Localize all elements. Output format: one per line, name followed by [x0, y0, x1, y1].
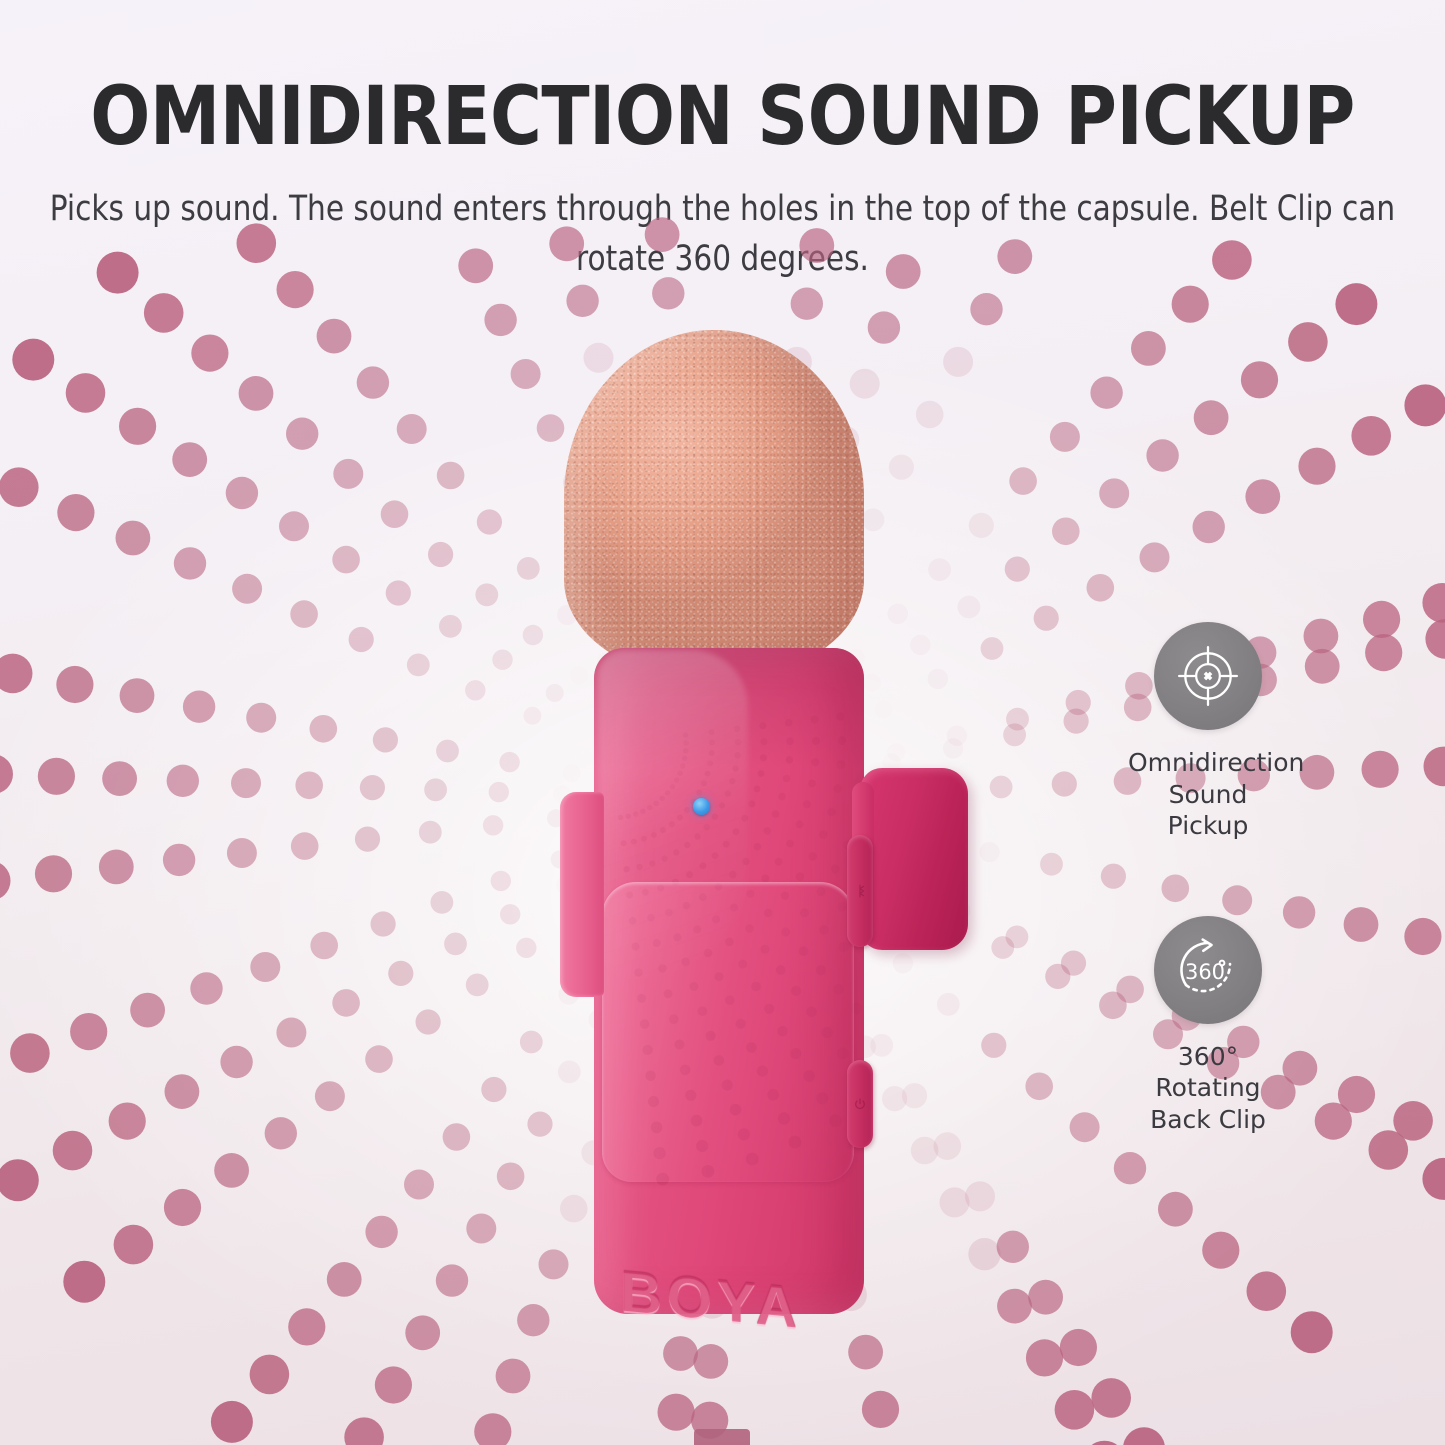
power-icon	[854, 1098, 867, 1111]
led-indicator	[693, 798, 710, 815]
pairing-icon	[853, 884, 867, 898]
feature-rotating-clip: 360 360° Rotating Back Clip	[1128, 916, 1288, 1136]
foam-windscreen	[564, 330, 864, 675]
feature-list: Omnidirection Sound Pickup 360 360° Rota…	[1128, 622, 1428, 1135]
feature-omnidirection: Omnidirection Sound Pickup	[1128, 622, 1288, 842]
front-plate-panel	[602, 882, 854, 1182]
rotate-360-icon: 360	[1172, 934, 1244, 1006]
clip-hinge-tab	[560, 792, 604, 997]
cutoff-element-bottom	[694, 1429, 750, 1445]
feature-badge	[1154, 622, 1262, 730]
page-subtitle: Picks up sound. The sound enters through…	[43, 185, 1401, 284]
header-block: OMNIDIRECTION SOUND PICKUP Picks up soun…	[0, 0, 1445, 285]
feature-badge: 360	[1154, 916, 1262, 1024]
crosshair-target-icon	[1175, 643, 1241, 709]
product-microphone: BOYA	[564, 330, 984, 1340]
rotating-back-clip[interactable]	[860, 768, 968, 950]
feature-label: Omnidirection Sound Pickup	[1128, 747, 1288, 842]
feature-label: 360° Rotating Back Clip	[1128, 1041, 1288, 1136]
page-title: OMNIDIRECTION SOUND PICKUP	[22, 78, 1424, 157]
power-button[interactable]	[847, 1060, 873, 1148]
pairing-button[interactable]	[847, 835, 873, 947]
